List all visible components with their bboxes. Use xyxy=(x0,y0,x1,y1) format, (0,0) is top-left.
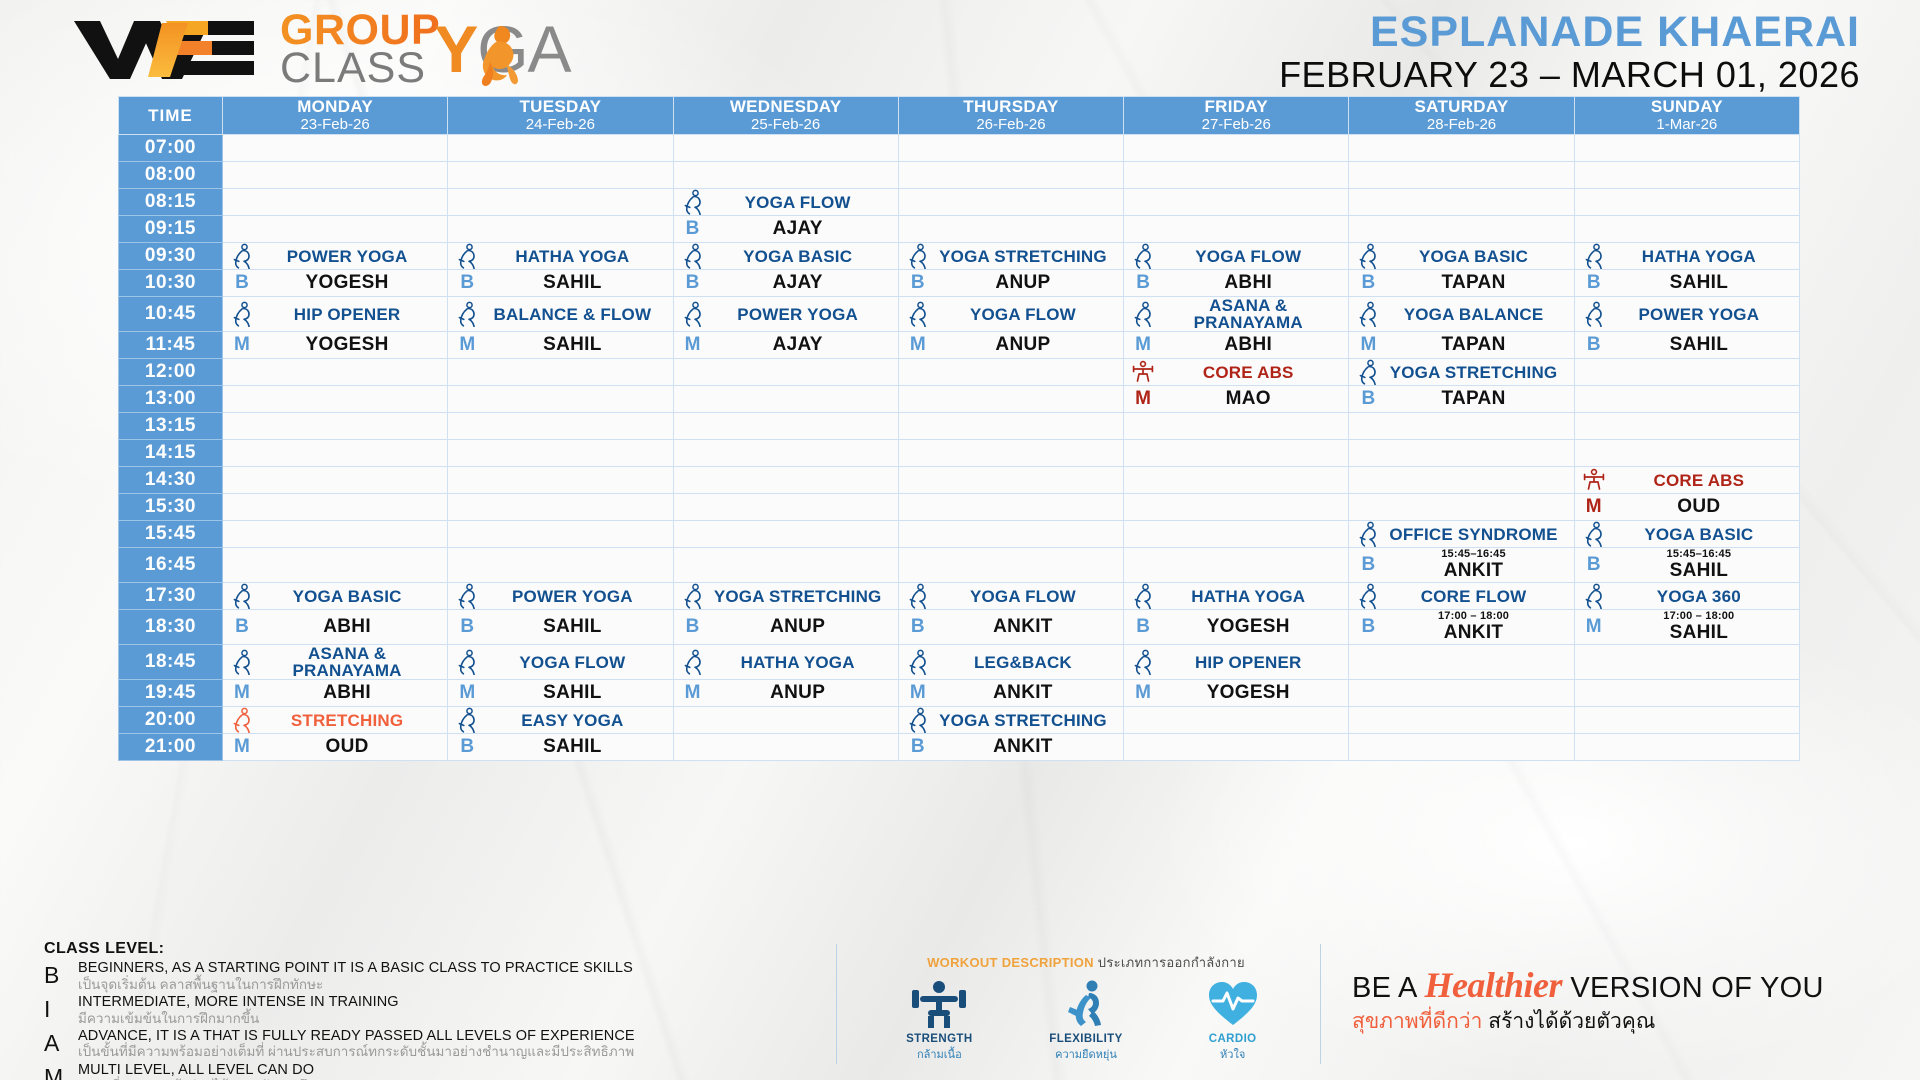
yoga-figure-icon xyxy=(905,649,931,675)
time-column-header: TIME xyxy=(119,97,223,135)
class-slot-instructor[interactable]: BSAHIL xyxy=(448,610,673,645)
class-level-desc-th: มีความเข้มข้นในการฝึกมากขึ้น xyxy=(78,1011,804,1027)
yoga-figure-icon xyxy=(1581,583,1607,609)
empty-slot xyxy=(673,548,898,583)
empty-slot xyxy=(1124,467,1349,494)
class-name: POWER YOGA xyxy=(1607,306,1791,323)
class-slot-instructor[interactable]: BSAHIL xyxy=(448,734,673,761)
time-end-cell: 08:00 xyxy=(119,162,223,189)
class-name: YOGA 360 xyxy=(1607,588,1791,605)
instructor-name: ANKIT xyxy=(1381,622,1565,644)
class-level-badge: B xyxy=(1130,616,1156,638)
day-name: SATURDAY xyxy=(1349,98,1573,116)
empty-slot xyxy=(1349,413,1574,440)
yoga-figure-icon xyxy=(682,189,704,215)
class-slot-title[interactable]: YOGA FLOW xyxy=(898,583,1123,610)
class-name: YOGA BASIC xyxy=(1381,248,1565,265)
empty-slot xyxy=(898,548,1123,583)
class-slot-title[interactable]: OFFICE SYNDROME xyxy=(1349,521,1574,548)
class-slot-instructor[interactable]: BYOGESH xyxy=(222,270,447,297)
workout-description-title: WORKOUT DESCRIPTION ประเภทการออกกำลังกาย xyxy=(866,952,1306,973)
yoga-figure-icon xyxy=(907,583,929,609)
class-slot-title[interactable]: YOGA BASIC xyxy=(1349,243,1574,270)
brand-logo: GROUP CLASS YGA xyxy=(70,8,571,92)
empty-slot xyxy=(1574,162,1799,189)
empty-slot xyxy=(448,189,673,216)
class-slot-instructor[interactable]: MSAHIL xyxy=(448,332,673,359)
time-end-cell: 09:15 xyxy=(119,216,223,243)
empty-slot xyxy=(448,521,673,548)
empty-slot xyxy=(1349,162,1574,189)
class-name: YOGA BASIC xyxy=(255,588,439,605)
class-slot-title[interactable]: CORE ABS xyxy=(1574,467,1799,494)
empty-slot xyxy=(1349,645,1574,680)
empty-slot xyxy=(1124,189,1349,216)
instructor-name: SAHIL xyxy=(1607,622,1791,644)
instructor-name: ABHI xyxy=(1156,334,1340,356)
class-level-row: AADVANCE, IT IS A THAT IS FULLY READY PA… xyxy=(44,1028,804,1061)
yoga-figure-icon xyxy=(1581,521,1607,547)
class-slot-instructor[interactable]: BABHI xyxy=(1124,270,1349,297)
instructor-name: ANKIT xyxy=(1381,560,1565,582)
class-slot-title[interactable]: BALANCE & FLOW xyxy=(448,297,673,332)
class-name: HATHA YOGA xyxy=(1607,248,1791,265)
class-level-badge: B xyxy=(229,616,255,638)
empty-slot xyxy=(448,162,673,189)
empty-slot xyxy=(1349,680,1574,707)
day-column-header-wednesday: WEDNESDAY25-Feb-26 xyxy=(673,97,898,135)
empty-slot xyxy=(222,359,447,386)
class-level-badge: B xyxy=(1355,388,1381,410)
class-slot-instructor[interactable]: M17:00 – 18:00SAHIL xyxy=(1574,610,1799,645)
class-slot-instructor[interactable]: MABHI xyxy=(222,680,447,707)
empty-slot xyxy=(1124,548,1349,583)
empty-slot xyxy=(673,135,898,162)
day-date: 24-Feb-26 xyxy=(448,117,672,133)
empty-slot xyxy=(1349,189,1574,216)
time-start-cell: 07:00 xyxy=(119,135,223,162)
class-slot-title[interactable]: YOGA STRETCHING xyxy=(1349,359,1574,386)
strength-icon xyxy=(908,979,970,1029)
empty-slot xyxy=(222,494,447,521)
schedule-row-top: 15:45OFFICE SYNDROMEYOGA BASIC xyxy=(119,521,1800,548)
class-slot-title[interactable]: ASANA & PRANAYAMA xyxy=(222,645,447,680)
schedule-row-top: 12:00CORE ABSYOGA STRETCHING xyxy=(119,359,1800,386)
class-level-desc-en: MULTI LEVEL, ALL LEVEL CAN DO xyxy=(78,1062,804,1079)
workout-item-strength: STRENGTH กล้ามเนื้อ xyxy=(874,979,1004,1063)
schedule-row-top: 13:15 xyxy=(119,413,1800,440)
yoga-figure-icon xyxy=(1355,301,1381,327)
empty-slot xyxy=(1574,680,1799,707)
yoga-figure-icon xyxy=(680,189,706,215)
class-level-key: B xyxy=(44,960,78,987)
class-slot-title[interactable]: HATHA YOGA xyxy=(673,645,898,680)
yoga-figure-icon xyxy=(456,301,478,327)
strength-figure-icon xyxy=(1131,360,1155,384)
class-level-desc-en: ADVANCE, IT IS A THAT IS FULLY READY PAS… xyxy=(78,1028,804,1045)
class-slot-instructor[interactable]: BSAHIL xyxy=(448,270,673,297)
class-level-badge: B xyxy=(1581,334,1607,356)
yoga-figure-icon xyxy=(1132,243,1154,269)
day-date: 25-Feb-26 xyxy=(674,117,898,133)
class-slot-title[interactable]: YOGA FLOW xyxy=(448,645,673,680)
class-slot-instructor[interactable]: BTAPAN xyxy=(1349,386,1574,413)
yoga-figure-icon xyxy=(454,243,480,269)
tagline-thai-orange: สุขภาพที่ดีกว่า xyxy=(1352,1010,1482,1033)
yoga-figure-icon xyxy=(454,649,480,675)
yoga-figure-icon xyxy=(1130,301,1156,327)
workout-label-flexibility-th: ความยืดหยุ่น xyxy=(1021,1045,1151,1063)
empty-slot xyxy=(1124,734,1349,761)
class-name: HIP OPENER xyxy=(255,306,439,323)
class-slot-title[interactable]: POWER YOGA xyxy=(448,583,673,610)
class-slot-instructor[interactable]: BAJAY xyxy=(673,216,898,243)
schedule-row-bottom: 18:30BABHIBSAHILBANUPBANKITBYOGESHB17:00… xyxy=(119,610,1800,645)
class-word: CLASS xyxy=(280,50,440,88)
class-slot-instructor[interactable]: BSAHIL xyxy=(1574,332,1799,359)
schedule-row-top: 07:00 xyxy=(119,135,1800,162)
class-slot-title[interactable]: YOGA BASIC xyxy=(1574,521,1799,548)
day-name: MONDAY xyxy=(223,98,447,116)
empty-slot xyxy=(1574,359,1799,386)
yoga-figure-icon xyxy=(682,649,704,675)
venue-title: ESPLANADE KHAERAI xyxy=(1279,10,1860,55)
yoga-figure-icon xyxy=(682,243,704,269)
class-level-badge: B xyxy=(905,616,931,638)
instructor-name: AJAY xyxy=(706,218,890,240)
class-level-badge: M xyxy=(454,682,480,704)
yoga-figure-icon xyxy=(905,301,931,327)
schedule-row-bottom: 14:15 xyxy=(119,440,1800,467)
empty-slot xyxy=(1124,521,1349,548)
class-level-badge: M xyxy=(1581,616,1607,638)
class-name: YOGA FLOW xyxy=(1156,248,1340,265)
time-end-cell: 21:00 xyxy=(119,734,223,761)
class-level-badge: M xyxy=(1130,388,1156,410)
empty-slot xyxy=(222,386,447,413)
yoga-figure-icon xyxy=(454,583,480,609)
instructor-name: YOGESH xyxy=(255,272,439,294)
empty-slot xyxy=(448,440,673,467)
class-slot-instructor[interactable]: B15:45–16:45SAHIL xyxy=(1574,548,1799,583)
yoga-figure-icon xyxy=(907,301,929,327)
class-level-badge: B xyxy=(1355,272,1381,294)
yoga-figure-icon xyxy=(229,707,255,733)
schedule-row-top: 08:15YOGA FLOW xyxy=(119,189,1800,216)
yoga-figure-icon xyxy=(1357,243,1379,269)
time-end-cell: 19:45 xyxy=(119,680,223,707)
class-slot-title[interactable]: YOGA STRETCHING xyxy=(898,707,1123,734)
empty-slot xyxy=(448,494,673,521)
empty-slot xyxy=(1349,440,1574,467)
time-end-cell: 14:15 xyxy=(119,440,223,467)
tagline-pre: BE A xyxy=(1352,972,1416,1004)
empty-slot xyxy=(222,162,447,189)
yoga-figure-icon xyxy=(680,301,706,327)
class-name: YOGA FLOW xyxy=(931,588,1115,605)
class-name: YOGA BASIC xyxy=(1607,526,1791,543)
instructor-name: TAPAN xyxy=(1381,334,1565,356)
workout-description-block: WORKOUT DESCRIPTION ประเภทการออกกำลังกาย… xyxy=(866,952,1306,1063)
empty-slot xyxy=(673,413,898,440)
class-slot-instructor[interactable]: BSAHIL xyxy=(1574,270,1799,297)
yoga-figure-icon xyxy=(456,583,478,609)
instructor-name: SAHIL xyxy=(1607,272,1791,294)
schedule-row-top: 14:30CORE ABS xyxy=(119,467,1800,494)
class-slot-title[interactable]: YOGA STRETCHING xyxy=(673,583,898,610)
instructor-name: SAHIL xyxy=(480,272,664,294)
class-level-badge: B xyxy=(905,736,931,758)
class-slot-title[interactable]: STRETCHING xyxy=(222,707,447,734)
yoga-figure-icon xyxy=(1355,359,1381,385)
empty-slot xyxy=(673,521,898,548)
empty-slot xyxy=(1349,216,1574,243)
class-slot-instructor[interactable]: MMAO xyxy=(1124,386,1349,413)
schedule-row-bottom: 11:45MYOGESHMSAHILMAJAYMANUPMABHIMTAPANB… xyxy=(119,332,1800,359)
header-title-block: ESPLANADE KHAERAI FEBRUARY 23 – MARCH 01… xyxy=(1279,10,1860,95)
class-slot-instructor[interactable]: MOUD xyxy=(222,734,447,761)
class-level-desc-en: BEGINNERS, AS A STARTING POINT IT IS A B… xyxy=(78,960,804,977)
time-start-cell: 14:30 xyxy=(119,467,223,494)
empty-slot xyxy=(898,521,1123,548)
class-slot-instructor[interactable]: MAJAY xyxy=(673,332,898,359)
class-slot-title[interactable]: HATHA YOGA xyxy=(1124,583,1349,610)
day-name: THURSDAY xyxy=(899,98,1123,116)
yoga-figure-icon xyxy=(905,243,931,269)
yoga-figure-icon xyxy=(680,243,706,269)
tagline-thai-dark: สร้างได้ด้วยตัวคุณ xyxy=(1488,1010,1655,1033)
class-level-badge: B xyxy=(454,736,480,758)
class-name: HIP OPENER xyxy=(1156,654,1340,671)
instructor-name: YOGESH xyxy=(1156,682,1340,704)
class-level-key: M xyxy=(44,1062,78,1080)
workout-label-flexibility-en: FLEXIBILITY xyxy=(1021,1033,1151,1045)
day-column-header-sunday: SUNDAY1-Mar-26 xyxy=(1574,97,1799,135)
class-level-badge: M xyxy=(1355,334,1381,356)
empty-slot xyxy=(1574,707,1799,734)
day-date: 23-Feb-26 xyxy=(223,117,447,133)
strength-figure-icon xyxy=(1581,468,1607,492)
class-level-badge: M xyxy=(1130,334,1156,356)
class-level-desc-th: เป็นจุดเริ่มต้น คลาสพื้นฐานในการฝึกทักษะ xyxy=(78,977,804,993)
class-slot-instructor[interactable]: BTAPAN xyxy=(1349,270,1574,297)
class-name: YOGA FLOW xyxy=(480,654,664,671)
schedule-row-bottom: 16:45B15:45–16:45ANKITB15:45–16:45SAHIL xyxy=(119,548,1800,583)
workout-label-strength-th: กล้ามเนื้อ xyxy=(874,1045,1004,1063)
yoga-figure-icon xyxy=(1357,521,1379,547)
class-slot-title[interactable]: POWER YOGA xyxy=(1574,297,1799,332)
empty-slot xyxy=(1574,135,1799,162)
class-name: CORE ABS xyxy=(1607,472,1791,489)
schedule-row-top: 17:30YOGA BASICPOWER YOGAYOGA STRETCHING… xyxy=(119,583,1800,610)
class-level-badge: B xyxy=(680,272,706,294)
empty-slot xyxy=(1349,467,1574,494)
empty-slot xyxy=(448,548,673,583)
class-level-badge: B xyxy=(454,616,480,638)
instructor-name: ANUP xyxy=(931,334,1115,356)
instructor-name: SAHIL xyxy=(480,682,664,704)
class-slot-instructor[interactable]: MSAHIL xyxy=(448,680,673,707)
empty-slot xyxy=(1124,707,1349,734)
class-slot-title[interactable]: POWER YOGA xyxy=(673,297,898,332)
class-slot-title[interactable]: YOGA FLOW xyxy=(1124,243,1349,270)
class-name: HATHA YOGA xyxy=(1156,588,1340,605)
class-slot-title[interactable]: YOGA FLOW xyxy=(673,189,898,216)
empty-slot xyxy=(898,467,1123,494)
empty-slot xyxy=(1574,645,1799,680)
class-slot-instructor[interactable]: BANKIT xyxy=(898,610,1123,645)
class-slot-title[interactable]: HATHA YOGA xyxy=(448,243,673,270)
instructor-name: ABHI xyxy=(1156,272,1340,294)
class-slot-title[interactable]: HIP OPENER xyxy=(1124,645,1349,680)
instructor-name: ANKIT xyxy=(931,736,1115,758)
flexibility-icon xyxy=(1062,979,1110,1029)
class-name: CORE ABS xyxy=(1156,364,1340,381)
class-slot-title[interactable]: CORE ABS xyxy=(1124,359,1349,386)
day-date: 26-Feb-26 xyxy=(899,117,1123,133)
class-slot-title[interactable]: YOGA 360 xyxy=(1574,583,1799,610)
schedule-row-bottom: 10:30BYOGESHBSAHILBAJAYBANUPBABHIBTAPANB… xyxy=(119,270,1800,297)
empty-slot xyxy=(898,162,1123,189)
class-name: HATHA YOGA xyxy=(480,248,664,265)
class-slot-instructor[interactable]: MANUP xyxy=(898,332,1123,359)
day-date: 27-Feb-26 xyxy=(1124,117,1348,133)
schedule-row-bottom: 15:30MOUD xyxy=(119,494,1800,521)
instructor-name: AJAY xyxy=(706,272,890,294)
class-level-badge: B xyxy=(454,272,480,294)
class-name: YOGA BASIC xyxy=(706,248,890,265)
class-slot-title[interactable]: LEG&BACK xyxy=(898,645,1123,680)
tagline-script-word: Healthier xyxy=(1424,965,1562,1005)
class-level-badge: M xyxy=(229,682,255,704)
yoga-figure-icon xyxy=(905,583,931,609)
yoga-figure-icon xyxy=(1583,583,1605,609)
day-column-header-monday: MONDAY23-Feb-26 xyxy=(222,97,447,135)
class-slot-title[interactable]: ASANA & PRANAYAMA xyxy=(1124,297,1349,332)
class-name: CORE FLOW xyxy=(1381,588,1565,605)
empty-slot xyxy=(673,162,898,189)
class-slot-title[interactable]: YOGA STRETCHING xyxy=(898,243,1123,270)
empty-slot xyxy=(448,413,673,440)
time-start-cell: 12:00 xyxy=(119,359,223,386)
schedule-row-top: 10:45HIP OPENERBALANCE & FLOWPOWER YOGAY… xyxy=(119,297,1800,332)
class-slot-instructor[interactable]: MOUD xyxy=(1574,494,1799,521)
yoga-figure-icon xyxy=(1130,243,1156,269)
yoga-figure-icon xyxy=(231,649,253,675)
class-slot-instructor[interactable]: BANUP xyxy=(898,270,1123,297)
empty-slot xyxy=(222,216,447,243)
class-slot-title[interactable]: YOGA BASIC xyxy=(222,583,447,610)
time-start-cell: 18:45 xyxy=(119,645,223,680)
empty-slot xyxy=(1124,440,1349,467)
day-name: TUESDAY xyxy=(448,98,672,116)
strength-figure-icon xyxy=(1582,468,1606,492)
empty-slot xyxy=(1124,162,1349,189)
class-level-badge: B xyxy=(905,272,931,294)
class-slot-instructor[interactable]: MABHI xyxy=(1124,332,1349,359)
class-slot-instructor[interactable]: BABHI xyxy=(222,610,447,645)
schedule-table: TIME MONDAY23-Feb-26TUESDAY24-Feb-26WEDN… xyxy=(118,96,1800,761)
class-slot-instructor[interactable]: BANKIT xyxy=(898,734,1123,761)
class-slot-instructor[interactable]: B17:00 – 18:00ANKIT xyxy=(1349,610,1574,645)
yoga-figure-icon xyxy=(1357,301,1379,327)
class-level-badge: M xyxy=(905,334,931,356)
class-level-badge: M xyxy=(229,334,255,356)
schedule-row-bottom: 09:15BAJAY xyxy=(119,216,1800,243)
yoga-figure-icon xyxy=(682,583,704,609)
schedule-row-top: 20:00STRETCHINGEASY YOGAYOGA STRETCHING xyxy=(119,707,1800,734)
class-level-desc-th: เป็นขั้นที่มีความพร้อมอย่างเต็มที่ ผ่านป… xyxy=(78,1044,804,1060)
empty-slot xyxy=(1124,494,1349,521)
yoga-figure-icon xyxy=(1132,583,1154,609)
empty-slot xyxy=(222,440,447,467)
class-slot-title[interactable]: HATHA YOGA xyxy=(1574,243,1799,270)
empty-slot xyxy=(898,494,1123,521)
class-slot-title[interactable]: YOGA BALANCE xyxy=(1349,297,1574,332)
yoga-figure-icon xyxy=(456,707,478,733)
time-end-cell: 10:30 xyxy=(119,270,223,297)
empty-slot xyxy=(1124,135,1349,162)
class-slot-title[interactable]: HIP OPENER xyxy=(222,297,447,332)
class-slot-instructor[interactable]: MYOGESH xyxy=(222,332,447,359)
yoga-figure-icon xyxy=(680,649,706,675)
class-slot-instructor[interactable]: BAJAY xyxy=(673,270,898,297)
yoga-pose-illustration-icon xyxy=(470,22,528,95)
class-slot-instructor[interactable]: MANKIT xyxy=(898,680,1123,707)
time-start-cell: 20:00 xyxy=(119,707,223,734)
class-slot-title[interactable]: CORE FLOW xyxy=(1349,583,1574,610)
class-slot-instructor[interactable]: MANUP xyxy=(673,680,898,707)
yoga-figure-icon xyxy=(454,301,480,327)
empty-slot xyxy=(898,359,1123,386)
class-name: YOGA FLOW xyxy=(931,306,1115,323)
class-slot-title[interactable]: YOGA FLOW xyxy=(898,297,1123,332)
yoga-figure-icon xyxy=(1355,583,1381,609)
class-level-badge: B xyxy=(1130,272,1156,294)
instructor-name: ANUP xyxy=(931,272,1115,294)
class-level-badge: M xyxy=(1130,682,1156,704)
empty-slot xyxy=(898,135,1123,162)
class-slot-title[interactable]: EASY YOGA xyxy=(448,707,673,734)
class-slot-instructor[interactable]: MYOGESH xyxy=(1124,680,1349,707)
class-slot-instructor[interactable]: MTAPAN xyxy=(1349,332,1574,359)
class-slot-instructor[interactable]: BYOGESH xyxy=(1124,610,1349,645)
yoga-wordmark: YGA xyxy=(434,20,570,79)
yoga-figure-icon xyxy=(229,583,255,609)
we-logo-mark xyxy=(70,15,270,85)
yoga-figure-icon xyxy=(456,243,478,269)
day-column-header-thursday: THURSDAY26-Feb-26 xyxy=(898,97,1123,135)
empty-slot xyxy=(448,216,673,243)
class-level-badge: M xyxy=(229,736,255,758)
yoga-figure-icon xyxy=(1132,649,1154,675)
class-slot-instructor[interactable]: B15:45–16:45ANKIT xyxy=(1349,548,1574,583)
class-slot-title[interactable]: POWER YOGA xyxy=(222,243,447,270)
instructor-name: YOGESH xyxy=(1156,616,1340,638)
yoga-figure-icon xyxy=(1583,521,1605,547)
time-end-cell: 16:45 xyxy=(119,548,223,583)
instructor-name: SAHIL xyxy=(480,334,664,356)
empty-slot xyxy=(1574,734,1799,761)
class-slot-title[interactable]: YOGA BASIC xyxy=(673,243,898,270)
time-start-cell: 10:45 xyxy=(119,297,223,332)
instructor-name: MAO xyxy=(1156,388,1340,410)
time-end-cell: 18:30 xyxy=(119,610,223,645)
empty-slot xyxy=(898,413,1123,440)
yoga-figure-icon xyxy=(229,301,255,327)
class-slot-instructor[interactable]: BANUP xyxy=(673,610,898,645)
empty-slot xyxy=(222,135,447,162)
